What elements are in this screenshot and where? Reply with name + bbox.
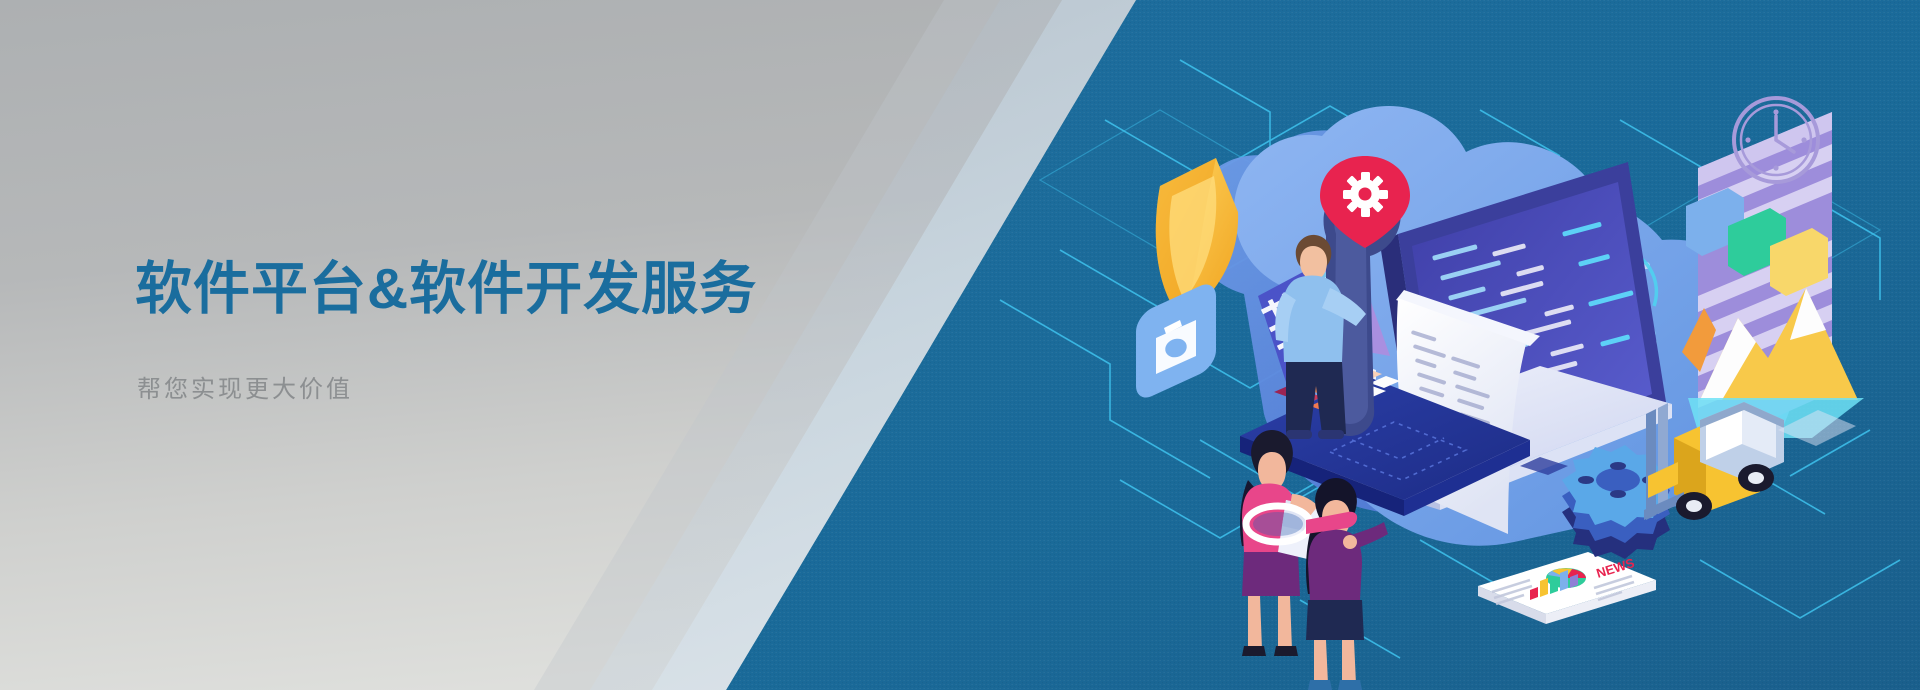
- page-title: 软件平台&软件开发服务: [135, 256, 757, 323]
- hero-text-block: 软件平台&软件开发服务 帮您实现更大价值: [135, 256, 757, 404]
- report-card-icon: NEWS: [1478, 552, 1656, 624]
- clock-icon: [1734, 98, 1818, 182]
- camera-icon: [1136, 284, 1216, 397]
- forklift-icon: [1644, 402, 1784, 520]
- page-subtitle: 帮您实现更大价值: [137, 369, 757, 404]
- hero-banner: NEWS: [0, 0, 1920, 690]
